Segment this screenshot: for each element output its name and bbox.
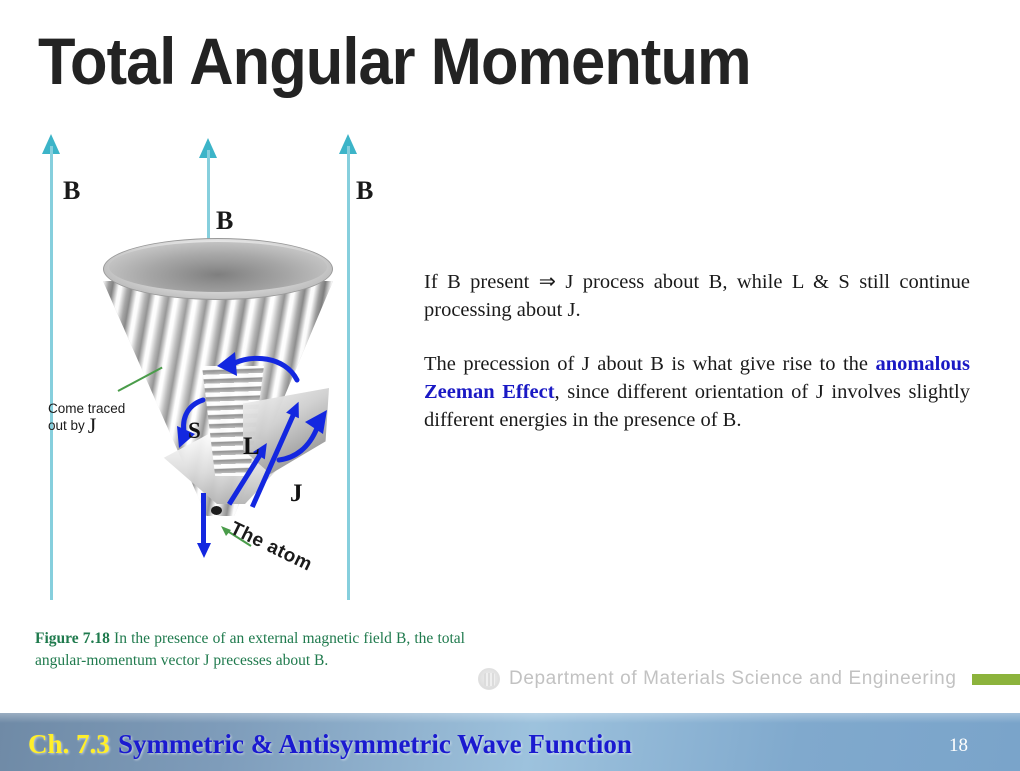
cone-trace-note: Come traced out byJ [48, 400, 178, 434]
paragraph2-part1: The precession of J about B is what give… [424, 353, 875, 375]
slide-body-text: If B present ⇒ J process about B, while … [424, 268, 970, 434]
green-accent-bar [972, 674, 1020, 685]
precession-curve-l [273, 408, 333, 466]
vector-label-j: J [290, 480, 303, 508]
trace-note-symbol: J [85, 413, 97, 438]
b-field-arrow-left [40, 134, 62, 600]
cone-inner-shadow [109, 242, 327, 292]
body-paragraph-1: If B present ⇒ J process about B, while … [424, 268, 970, 324]
page-title: Total Angular Momentum [38, 24, 751, 98]
page-number: 18 [949, 735, 968, 757]
figure-number: Figure 7.18 [35, 630, 110, 647]
trace-note-line2: out by [48, 418, 85, 433]
department-branding: Department of Materials Science and Engi… [478, 668, 1020, 690]
b-field-label-left: B [63, 176, 80, 206]
b-field-label-right: B [356, 176, 373, 206]
university-seal-icon [478, 668, 500, 690]
vector-label-l: L [243, 433, 260, 461]
atom-point [211, 506, 222, 515]
figure-caption: Figure 7.18 In the presence of an extern… [35, 628, 465, 672]
footer-bar: Ch. 7.3 Symmetric & Antisymmetric Wave F… [0, 713, 1020, 771]
footer-subject-label: Symmetric & Antisymmetric Wave Function [118, 729, 632, 760]
footer-chapter-label: Ch. 7.3 [28, 729, 110, 760]
vector-label-s: S [188, 418, 201, 444]
figure-diagram: B B B J S L Come traced out byJ The [28, 128, 418, 618]
precession-curve-j [213, 350, 303, 392]
body-paragraph-2: The precession of J about B is what give… [424, 350, 970, 434]
department-name: Department of Materials Science and Engi… [509, 668, 957, 690]
b-field-label-middle: B [216, 206, 233, 236]
